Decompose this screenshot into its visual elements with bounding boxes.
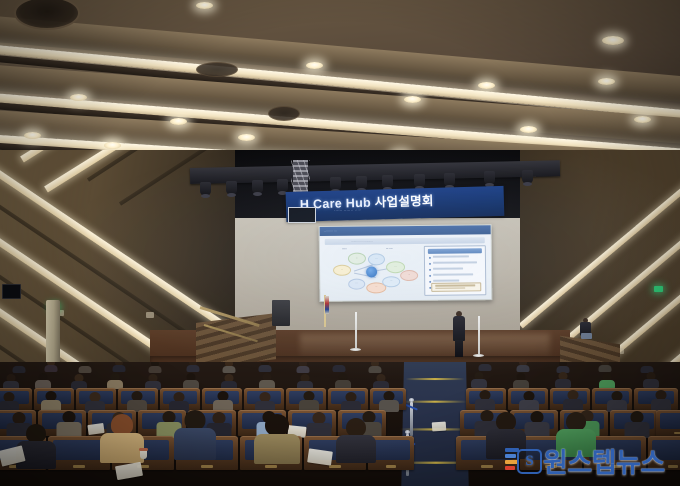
audience-member (112, 362, 126, 371)
audience-member (512, 373, 529, 388)
stage-light (484, 171, 495, 185)
audience-member (516, 362, 530, 371)
audience-member (336, 418, 376, 462)
audience-member (212, 391, 233, 411)
aisle-safety-stripe (406, 378, 465, 380)
slide-section-label-right: ··· ···· (386, 247, 393, 250)
audience-member (524, 411, 550, 437)
slide-subtitle-text: ························ (351, 239, 373, 243)
audience-member (2, 374, 19, 389)
lectern (272, 300, 290, 326)
audience-member (562, 390, 583, 410)
audience-member (598, 373, 615, 388)
audience-member (296, 374, 313, 389)
slide-header-bar: ········· ··· (320, 225, 491, 236)
stage-steps-left (196, 313, 276, 369)
diagram-bubble: ··· (382, 276, 400, 287)
audience-member (478, 362, 492, 370)
audience-member (148, 362, 162, 372)
diagram-hub-icon (366, 266, 377, 277)
audience-member (640, 362, 654, 372)
audience-member (144, 374, 161, 389)
panel-list-item (429, 255, 481, 259)
wall-monitor (2, 284, 21, 299)
audience-member (0, 392, 19, 412)
audience-member (78, 362, 92, 372)
stage-light (522, 170, 533, 184)
audience-member (12, 362, 26, 372)
audience-member (186, 362, 200, 371)
audience-member (182, 373, 199, 388)
audience-member (518, 391, 539, 411)
audience-member (606, 391, 627, 411)
aisle-stanchion-top (405, 430, 410, 434)
truss-control-box (288, 207, 316, 223)
handout-paper (432, 422, 447, 432)
presenter (452, 311, 466, 357)
audience-member (174, 410, 216, 458)
audience-member (642, 372, 659, 387)
panel-list-item (429, 261, 481, 265)
audience-member (220, 374, 237, 389)
ceiling-downlight (238, 134, 255, 141)
aisle-stanchion-top (409, 398, 414, 402)
panel-list-item (429, 273, 481, 277)
ceiling-vent-icon (268, 106, 300, 121)
seated-staff (580, 318, 592, 342)
audience-member (34, 373, 51, 388)
audience-member (624, 411, 650, 437)
audience-member (168, 392, 189, 412)
audience-member (556, 362, 570, 372)
watermark-logo-icon: S (505, 447, 539, 473)
national-flag (322, 295, 328, 327)
microphone-stand (478, 316, 480, 356)
slide-side-panel (424, 245, 487, 296)
audience-member (372, 374, 389, 389)
coffee-cup (140, 448, 147, 459)
audience-member (70, 374, 87, 389)
ceiling-downlight (404, 96, 421, 103)
flag-cloth (325, 296, 329, 314)
stage-light (200, 182, 211, 196)
presenter-body (453, 316, 465, 341)
ceiling-downlight (598, 78, 615, 85)
audience-member (126, 391, 147, 411)
stage-light (414, 174, 425, 188)
audience-member (378, 391, 399, 411)
logo-bar (505, 454, 516, 458)
audience-member (298, 391, 319, 411)
diagram-bubble: ··· (400, 270, 418, 281)
ceiling-downlight (196, 2, 213, 9)
ceiling-downlight (104, 142, 121, 149)
auditorium-photo: H Care Hub 사업설명회 ······ ······· ····· ··… (0, 0, 680, 486)
ceiling-downlight (170, 118, 187, 125)
audience-member (306, 412, 332, 438)
diagram-bubble: ··· (348, 279, 365, 290)
audience-member (340, 392, 361, 412)
stage-light (226, 181, 237, 195)
audience-member (254, 414, 300, 462)
handout-paper (115, 462, 143, 480)
seat (656, 410, 680, 436)
seated-staff-lap (581, 333, 592, 339)
stage-light (277, 179, 288, 193)
panel-list-item (429, 267, 481, 271)
panel-note (431, 282, 481, 292)
audience-member (222, 362, 236, 372)
event-banner: H Care Hub 사업설명회 ······ ······· ····· (286, 186, 505, 222)
slide-content: ········· ··· ························ ·… (320, 225, 492, 301)
wall-plate (146, 312, 154, 318)
logo-bar (505, 466, 515, 470)
audience-member (258, 362, 272, 371)
audience-member (332, 362, 346, 371)
ceiling-downlight (306, 62, 323, 69)
stage-light (330, 177, 341, 191)
audience-member (100, 414, 144, 460)
presenter-legs (455, 340, 463, 357)
microphone-base (350, 348, 361, 351)
exit-sign-icon (654, 286, 663, 292)
audience-member (474, 390, 495, 410)
audience-member (554, 372, 571, 387)
slide-subtitle-bar: ························ (325, 237, 485, 245)
ceiling-downlight (520, 126, 537, 133)
stage-light (356, 176, 367, 190)
logo-letter: S (517, 449, 542, 474)
audience-member (56, 411, 82, 437)
stage-light (252, 180, 263, 194)
audience-member (254, 392, 275, 412)
watermark-text: 원스텝뉴스 (543, 441, 665, 480)
stage-light (382, 175, 393, 189)
audience-member (296, 362, 310, 372)
ceiling-downlight (478, 82, 495, 89)
audience-member (368, 362, 382, 372)
audience-member (598, 362, 612, 371)
ceiling-downlight (634, 116, 651, 123)
microphone-stand (355, 312, 357, 350)
slide-section-label-left: ······ (342, 248, 347, 251)
slide-header-text: ········· ··· (324, 229, 338, 233)
diagram-bubble: ··· (348, 253, 366, 265)
diagram-bubble: ··· (368, 253, 385, 265)
audience-member (334, 373, 351, 388)
wall-light-strip (520, 157, 680, 329)
projection-screen: ········· ··· ························ ·… (319, 224, 493, 302)
panel-header (428, 248, 482, 253)
audience-member (106, 373, 123, 388)
diagram-bubble: ··· (333, 265, 351, 276)
ceiling-downlight (70, 94, 87, 101)
microphone-base (473, 354, 484, 357)
audience-member (650, 390, 671, 410)
ceiling-downlight (24, 132, 41, 139)
ceiling-downlight (602, 36, 624, 45)
audience-member (44, 362, 58, 371)
audience-member (258, 373, 275, 388)
ceiling-vent-icon (196, 62, 238, 77)
audience-member (470, 372, 487, 387)
audience-member (40, 391, 61, 411)
stage-light (444, 173, 455, 187)
audience-member (84, 392, 105, 412)
watermark: S 원스텝뉴스 (505, 440, 675, 480)
